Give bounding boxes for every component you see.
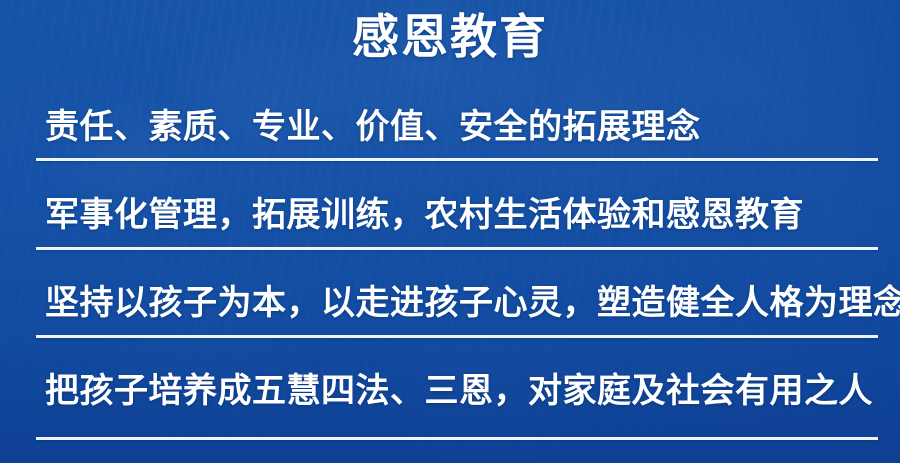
slogan-line-1: 责任、素质、专业、价值、安全的拓展理念 — [45, 104, 701, 150]
slogan-line-4: 把孩子培养成五慧四法、三恩，对家庭及社会有用之人 — [45, 368, 873, 414]
list-item: 把孩子培养成五慧四法、三恩，对家庭及社会有用之人 — [0, 352, 900, 440]
page-title: 感恩教育 — [0, 4, 900, 70]
list-item: 坚持以孩子为本，以走进孩子心灵，塑造健全人格为理念 — [0, 264, 900, 352]
list-item: 责任、素质、专业、价值、安全的拓展理念 — [0, 88, 900, 176]
banner-content: 感恩教育 责任、素质、专业、价值、安全的拓展理念 军事化管理，拓展训练，农村生活… — [0, 0, 900, 463]
gratitude-education-banner: 感恩教育 责任、素质、专业、价值、安全的拓展理念 军事化管理，拓展训练，农村生活… — [0, 0, 900, 463]
slogan-line-2: 军事化管理，拓展训练，农村生活体验和感恩教育 — [45, 192, 804, 238]
divider-4 — [36, 437, 878, 440]
slogan-list: 责任、素质、专业、价值、安全的拓展理念 军事化管理，拓展训练，农村生活体验和感恩… — [0, 88, 900, 440]
divider-2 — [36, 247, 878, 250]
slogan-line-3: 坚持以孩子为本，以走进孩子心灵，塑造健全人格为理念 — [45, 280, 900, 326]
divider-1 — [36, 158, 878, 161]
divider-3 — [36, 335, 878, 338]
list-item: 军事化管理，拓展训练，农村生活体验和感恩教育 — [0, 176, 900, 264]
